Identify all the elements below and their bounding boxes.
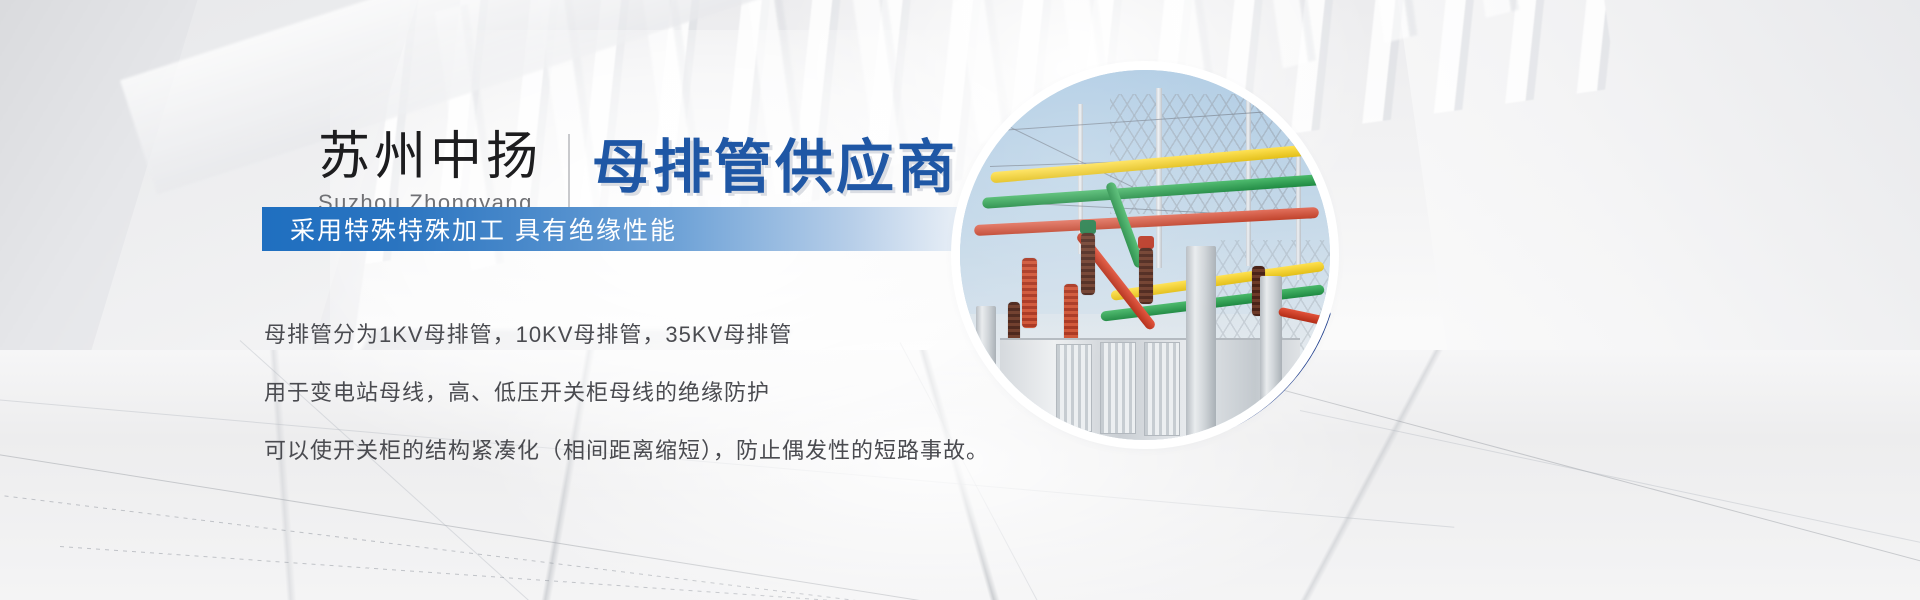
photo-support-column xyxy=(1260,276,1282,440)
body-line: 用于变电站母线，高、低压开关柜母线的绝缘防护 xyxy=(264,378,989,408)
photo-insulator-cap xyxy=(1080,220,1096,234)
photo-support-column xyxy=(1186,246,1216,440)
photo-insulator xyxy=(1139,248,1153,304)
photo-radiator xyxy=(1100,342,1136,434)
brand-block: 苏州中扬 Suzhou Zhongyang xyxy=(318,128,542,216)
photo-insulator xyxy=(1081,233,1095,295)
photo-steel-post xyxy=(1156,88,1162,268)
photo-support-column xyxy=(976,306,996,440)
headline: 母排管供应商 xyxy=(592,136,958,200)
body-line: 可以使开关柜的结构紧凑化（相间距离缩短），防止偶发性的短路事故。 xyxy=(264,436,989,466)
photo-insulator-red xyxy=(1022,258,1037,328)
subtitle-bar-text: 采用特殊特殊加工 具有绝缘性能 xyxy=(290,211,677,247)
photo-radiator xyxy=(1144,342,1180,436)
substation-photo xyxy=(960,70,1330,440)
promo-banner: 苏州中扬 Suzhou Zhongyang 母排管供应商 采用特殊特殊加工 具有… xyxy=(0,0,1920,600)
substation-photo-inner xyxy=(960,70,1330,440)
photo-insulator-red xyxy=(1064,284,1078,342)
body-line: 母排管分为1KV母排管，10KV母排管，35KV母排管 xyxy=(264,320,989,350)
brand-name-cn: 苏州中扬 xyxy=(318,128,542,186)
photo-radiator xyxy=(1056,344,1092,432)
subtitle-bar: 采用特殊特殊加工 具有绝缘性能 xyxy=(262,207,1002,251)
body-text-list: 母排管分为1KV母排管，10KV母排管，35KV母排管 用于变电站母线，高、低压… xyxy=(264,320,989,494)
substation-photo-circle xyxy=(960,70,1330,440)
banner-content: 苏州中扬 Suzhou Zhongyang 母排管供应商 采用特殊特殊加工 具有… xyxy=(0,0,1920,600)
